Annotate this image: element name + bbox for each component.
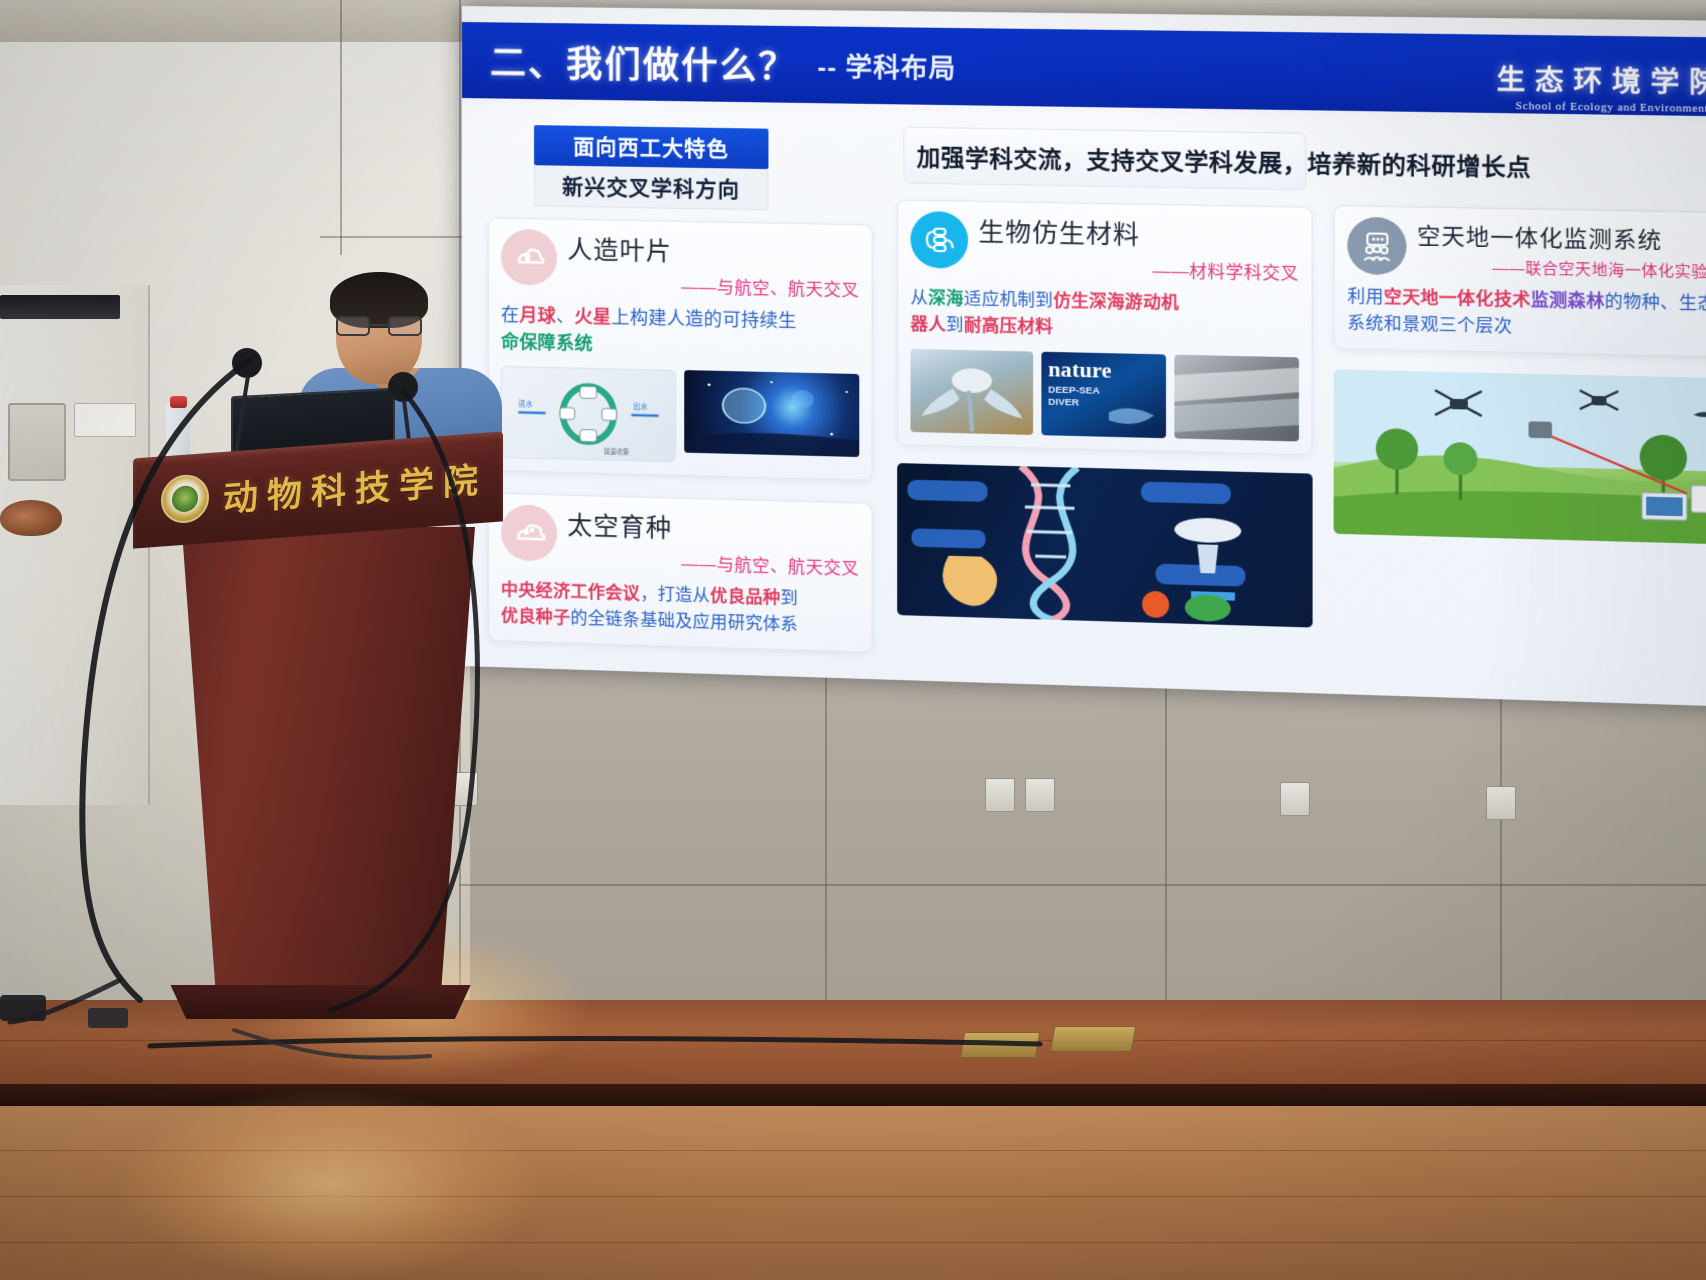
svg-text:DIVER: DIVER: [1048, 397, 1079, 408]
presentation-slide: 二、我们做什么？ -- 学科布局 生态环境学院 School of Ecolog…: [462, 6, 1706, 707]
lens-left: [336, 316, 370, 336]
wall-av-panel: [0, 295, 120, 319]
wall-seam: [340, 0, 342, 255]
wall-seam: [320, 236, 480, 238]
slide-column-right: 空天地一体化监测系统 ——联合空天地海一体化实验室 利用空天地一体化技术监测森林…: [1323, 117, 1706, 708]
wall-seam: [825, 668, 827, 1008]
svg-text:nature: nature: [1048, 358, 1111, 383]
space-photo: [684, 370, 859, 457]
lens-right: [388, 316, 422, 336]
slide-column-middle: 加强学科交流，支持交叉学科发展，培养新的科研增长点: [887, 110, 1323, 693]
wall-decor: [0, 500, 62, 536]
cross-discipline-banner: 加强学科交流，支持交叉学科发展，培养新的科研增长点: [903, 127, 1306, 191]
hl-moon: 月球: [519, 305, 556, 326]
card-body: 利用空天地一体化技术监测森林的物种、生态 系统和景观三个层次: [1347, 283, 1706, 343]
material-sem-photo: [1174, 355, 1299, 442]
deepsea-fish-photo: [911, 349, 1034, 435]
card-air-space-ground[interactable]: 空天地一体化监测系统 ——联合空天地海一体化实验室 利用空天地一体化技术监测森林…: [1334, 205, 1706, 358]
card-header: 空天地一体化监测系统 ——联合空天地海一体化实验室: [1347, 217, 1706, 283]
card-space-breeding[interactable]: 太空育种 ——与航空、航天交叉 中央经济工作会议，打造从优良品种到 优良种子的全…: [488, 493, 873, 653]
slide-subtitle: -- 学科布局: [817, 46, 956, 85]
card-header: 人造叶片 ——与航空、航天交叉: [501, 229, 859, 301]
lens-bridge: [370, 324, 388, 326]
card-title-group: 太空育种 ——与航空、航天交叉: [567, 506, 859, 580]
hl-tech: 空天地一体化技术: [1384, 287, 1531, 310]
hl-deepsea: 深海: [928, 288, 964, 308]
floor-plank-line: [0, 1242, 1706, 1243]
wall-cabinet: [0, 285, 150, 805]
university-crest-icon: [161, 473, 209, 525]
card-dash: ——联合空天地海一体化实验室: [1417, 255, 1706, 283]
card-header: 生物仿生材料 ——材料学科交叉: [911, 211, 1299, 285]
floor: [0, 1106, 1706, 1280]
hl-life-support: 命保障系统: [501, 332, 593, 354]
hl-seed: 优良种子: [501, 606, 570, 627]
card-images: nature DEEP-SEA DIVER: [911, 349, 1299, 442]
slide-column-left: 面向西工大特色 新兴交叉学科方向: [462, 104, 887, 680]
power-outlet[interactable]: [985, 778, 1015, 812]
card-dash: ——与航空、航天交叉: [567, 546, 859, 580]
card-header: 太空育种 ——与航空、航天交叉: [501, 504, 859, 579]
card-title: 生物仿生材料: [978, 212, 1299, 255]
tag-white: 新兴交叉学科方向: [534, 165, 768, 210]
slide-header-bar: 二、我们做什么？ -- 学科布局 生态环境学院 School of Ecolog…: [462, 22, 1706, 117]
card-artificial-leaf[interactable]: 人造叶片 ——与航空、航天交叉 在月球、火星上构建人造的可持续生 命保障系统: [488, 217, 873, 480]
college-name-en: School of Ecology and Environment: [1497, 100, 1706, 116]
leaf-cloud-icon: [501, 229, 557, 286]
power-outlet[interactable]: [1280, 782, 1310, 816]
card-title-group: 空天地一体化监测系统 ——联合空天地海一体化实验室: [1417, 218, 1706, 283]
svg-text:进水: 进水: [518, 398, 533, 409]
svg-text:出水: 出水: [633, 401, 648, 412]
hl-meeting: 中央经济工作会议: [501, 580, 640, 603]
card-title-group: 人造叶片 ——与航空、航天交叉: [567, 230, 859, 301]
bio-material-icon: [911, 211, 969, 269]
microphone-left[interactable]: [232, 348, 262, 378]
card-body: 从深海适应机制到仿生深海游动机 器人到耐高压材料: [911, 285, 1299, 345]
college-name-cn: 生态环境学院: [1497, 57, 1706, 100]
card-images: 进水 出水 能量收集: [501, 366, 859, 467]
cabinet-door[interactable]: [8, 403, 66, 481]
floor-outlet-box[interactable]: [960, 1032, 1041, 1058]
card-body: 在月球、火星上构建人造的可持续生 命保障系统: [501, 302, 859, 364]
hl-robot: 器人: [911, 314, 947, 334]
seed-cloud-icon: [501, 504, 557, 562]
forest-monitoring-photo: [1334, 369, 1706, 544]
wall-seam: [1500, 668, 1502, 1008]
video-wall-display[interactable]: 二、我们做什么？ -- 学科布局 生态环境学院 School of Ecolog…: [462, 6, 1706, 707]
mic-capsule: [232, 348, 262, 378]
monitor-people-icon: [1347, 217, 1406, 276]
space-breeding-dna-diagram: [897, 463, 1312, 627]
hl-hipressure: 耐高压材料: [964, 315, 1053, 336]
card-dash: ——材料学科交叉: [978, 253, 1299, 285]
microphone-right[interactable]: [388, 372, 418, 402]
card-bio-material[interactable]: 生物仿生材料 ——材料学科交叉 从深海适应机制到仿生深海游动机 器人到耐高压材料: [897, 200, 1312, 456]
floor-plank-line: [0, 1196, 1706, 1197]
podium: 动物科技学院: [133, 445, 503, 1025]
podium-base: [161, 985, 477, 1019]
slide-content: 面向西工大特色 新兴交叉学科方向: [462, 104, 1706, 707]
power-outlet[interactable]: [1486, 786, 1516, 820]
feature-tag-group: 面向西工大特色 新兴交叉学科方向: [534, 125, 768, 210]
tag-blue: 面向西工大特色: [534, 125, 768, 169]
card-body: 中央经济工作会议，打造从优良品种到 优良种子的全链条基础及应用研究体系: [501, 577, 859, 639]
card-title-group: 生物仿生材料 ——材料学科交叉: [978, 212, 1299, 284]
slide-title: 二、我们做什么？: [490, 34, 797, 90]
wall-seam-horizontal: [459, 884, 1706, 886]
floor-plank-line: [0, 1040, 1706, 1041]
podium-body: [163, 527, 475, 997]
power-outlet[interactable]: [1025, 778, 1055, 812]
floor-plank-line: [0, 1150, 1706, 1151]
cabinet-label: [74, 403, 136, 437]
glasses-icon: [336, 316, 424, 336]
hl-biomimetic: 仿生深海游动机: [1053, 291, 1179, 313]
hl-monitor: 监测森林: [1531, 290, 1605, 311]
svg-text:DEEP-SEA: DEEP-SEA: [1048, 385, 1100, 396]
card-title: 太空育种: [567, 506, 859, 550]
bottle-cap: [170, 396, 187, 408]
college-logo: 生态环境学院 School of Ecology and Environment: [1497, 57, 1706, 115]
hl-mars: 火星: [574, 306, 611, 327]
card-title: 空天地一体化监测系统: [1417, 218, 1706, 257]
hl-variety: 优良品种: [710, 586, 780, 607]
card-title: 人造叶片: [567, 230, 859, 272]
nature-journal-cover: nature DEEP-SEA DIVER: [1042, 352, 1166, 438]
leaf-system-diagram: 进水 出水 能量收集: [501, 366, 676, 463]
wall-seam: [1165, 668, 1167, 1008]
card-dash: ——与航空、航天交叉: [567, 270, 859, 301]
lecture-hall-scene: 二、我们做什么？ -- 学科布局 生态环境学院 School of Ecolog…: [0, 0, 1706, 1280]
svg-text:能量收集: 能量收集: [604, 446, 630, 456]
mic-capsule: [388, 372, 418, 402]
floor-outlet-box[interactable]: [1050, 1026, 1137, 1052]
